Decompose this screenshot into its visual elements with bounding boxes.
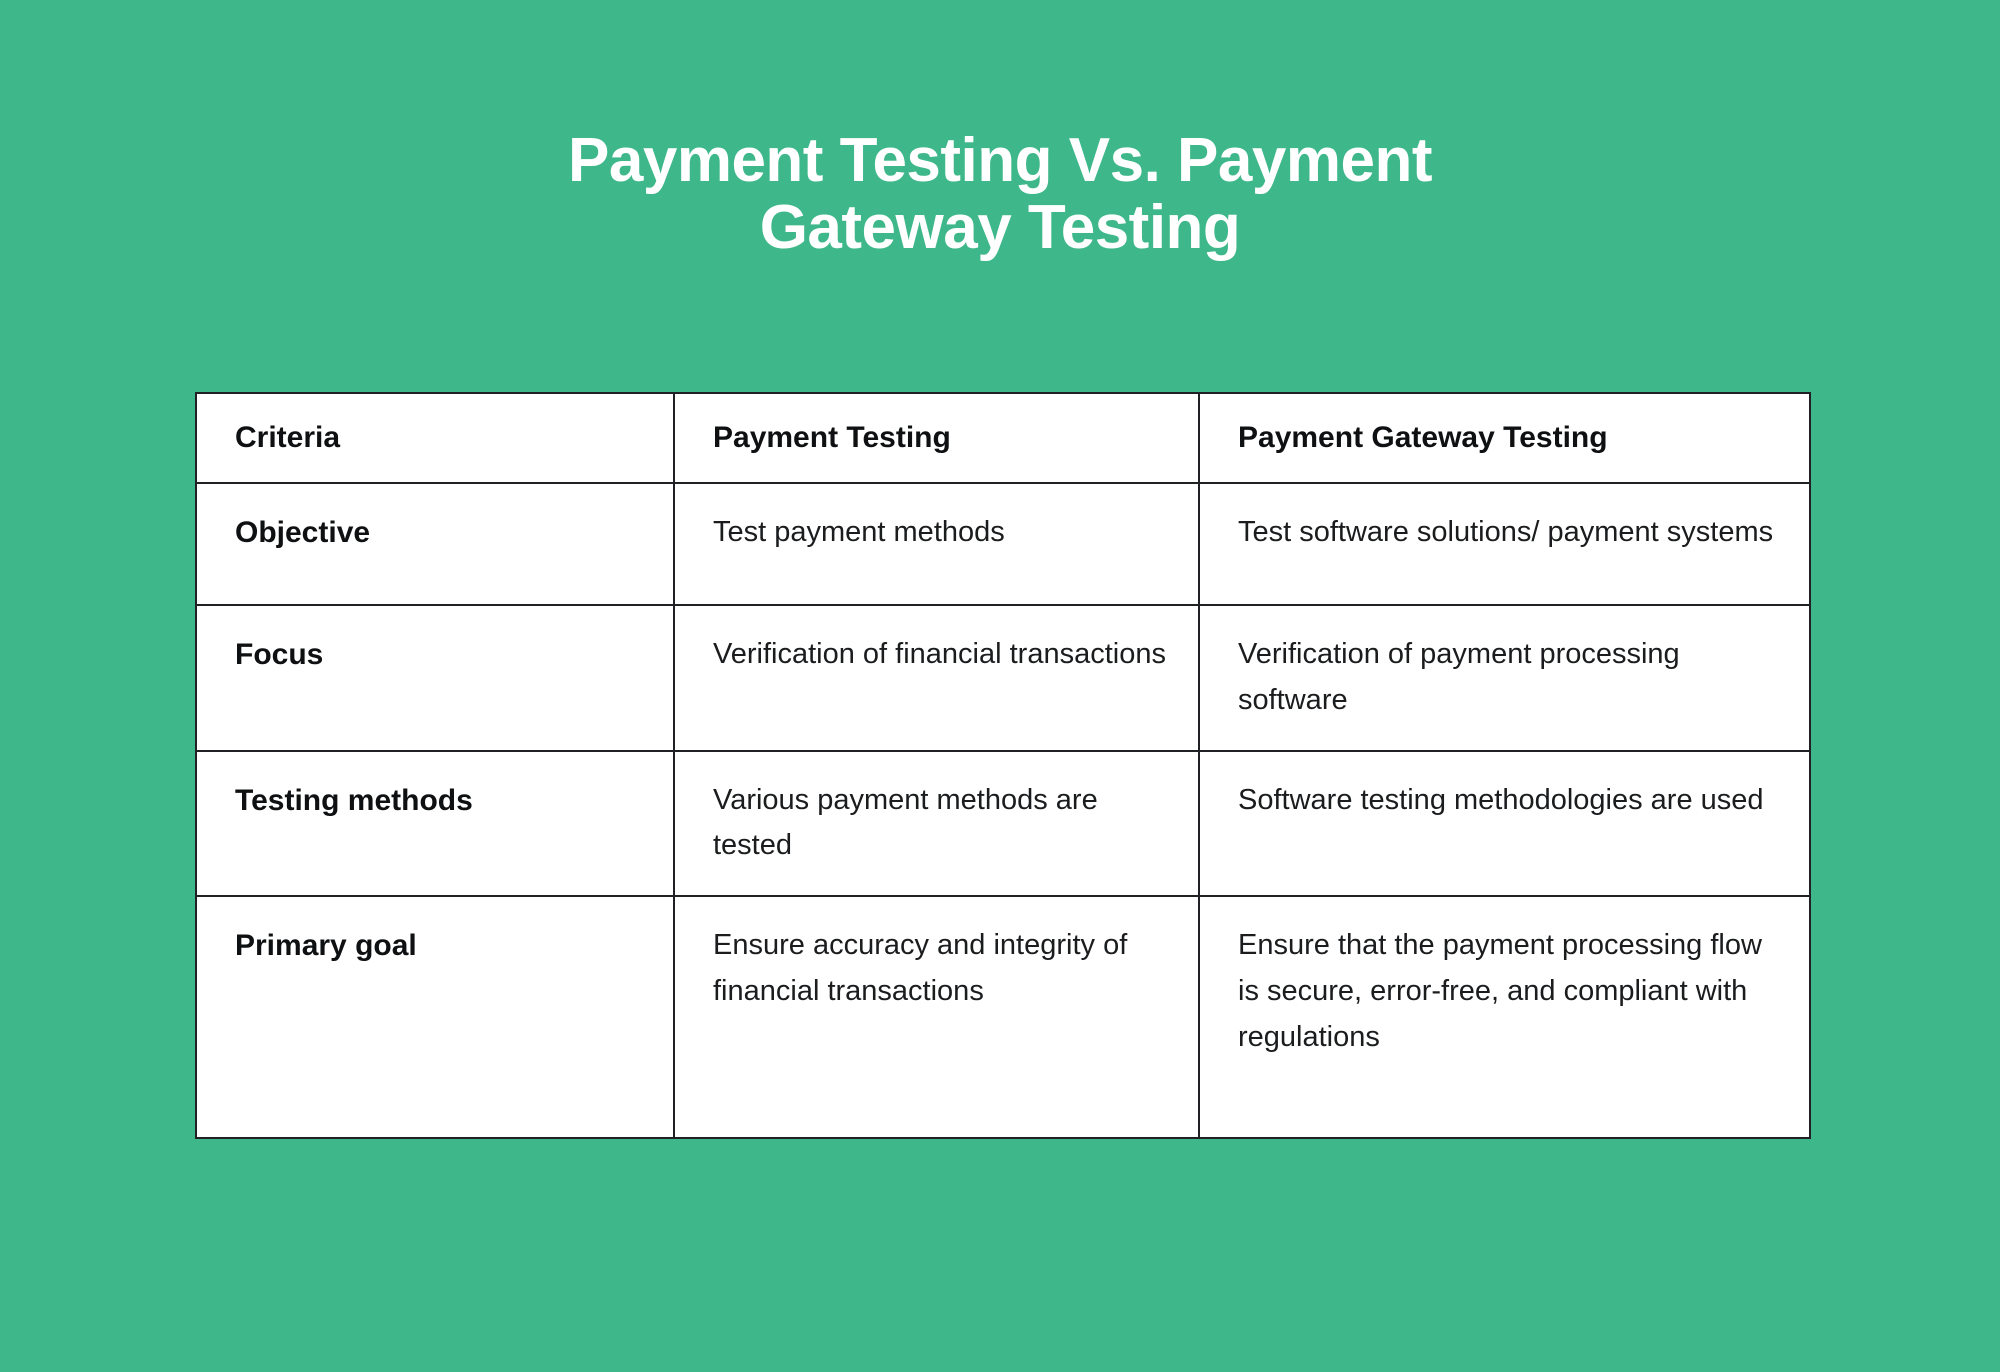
column-header-payment-testing: Payment Testing — [674, 393, 1199, 483]
table-row: Primary goal Ensure accuracy and integri… — [196, 896, 1810, 1138]
table-row: Objective Test payment methods Test soft… — [196, 483, 1810, 605]
cell-testing-methods-payment-gateway-testing: Software testing methodologies are used — [1199, 751, 1810, 897]
table-header: Criteria Payment Testing Payment Gateway… — [196, 393, 1810, 483]
comparison-table: Criteria Payment Testing Payment Gateway… — [195, 392, 1811, 1139]
row-criteria-focus: Focus — [196, 605, 674, 751]
cell-primary-goal-payment-testing: Ensure accuracy and integrity of financi… — [674, 896, 1199, 1138]
row-criteria-testing-methods: Testing methods — [196, 751, 674, 897]
page-title-line-2: Gateway Testing — [300, 195, 1700, 262]
cell-focus-payment-testing: Verification of financial transactions — [674, 605, 1199, 751]
table-header-row: Criteria Payment Testing Payment Gateway… — [196, 393, 1810, 483]
column-header-payment-gateway-testing: Payment Gateway Testing — [1199, 393, 1810, 483]
row-criteria-objective: Objective — [196, 483, 674, 605]
column-header-criteria: Criteria — [196, 393, 674, 483]
page-title-line-1: Payment Testing Vs. Payment — [300, 128, 1700, 195]
comparison-table-container: Criteria Payment Testing Payment Gateway… — [195, 392, 1809, 1139]
page-title: Payment Testing Vs. Payment Gateway Test… — [300, 128, 1700, 262]
cell-focus-payment-gateway-testing: Verification of payment processing softw… — [1199, 605, 1810, 751]
table-body: Objective Test payment methods Test soft… — [196, 483, 1810, 1138]
cell-testing-methods-payment-testing: Various payment methods are tested — [674, 751, 1199, 897]
cell-objective-payment-gateway-testing: Test software solutions/ payment systems — [1199, 483, 1810, 605]
table-row: Testing methods Various payment methods … — [196, 751, 1810, 897]
cell-primary-goal-payment-gateway-testing: Ensure that the payment processing flow … — [1199, 896, 1810, 1138]
cell-objective-payment-testing: Test payment methods — [674, 483, 1199, 605]
infographic-page: Payment Testing Vs. Payment Gateway Test… — [0, 0, 2000, 1372]
row-criteria-primary-goal: Primary goal — [196, 896, 674, 1138]
table-row: Focus Verification of financial transact… — [196, 605, 1810, 751]
